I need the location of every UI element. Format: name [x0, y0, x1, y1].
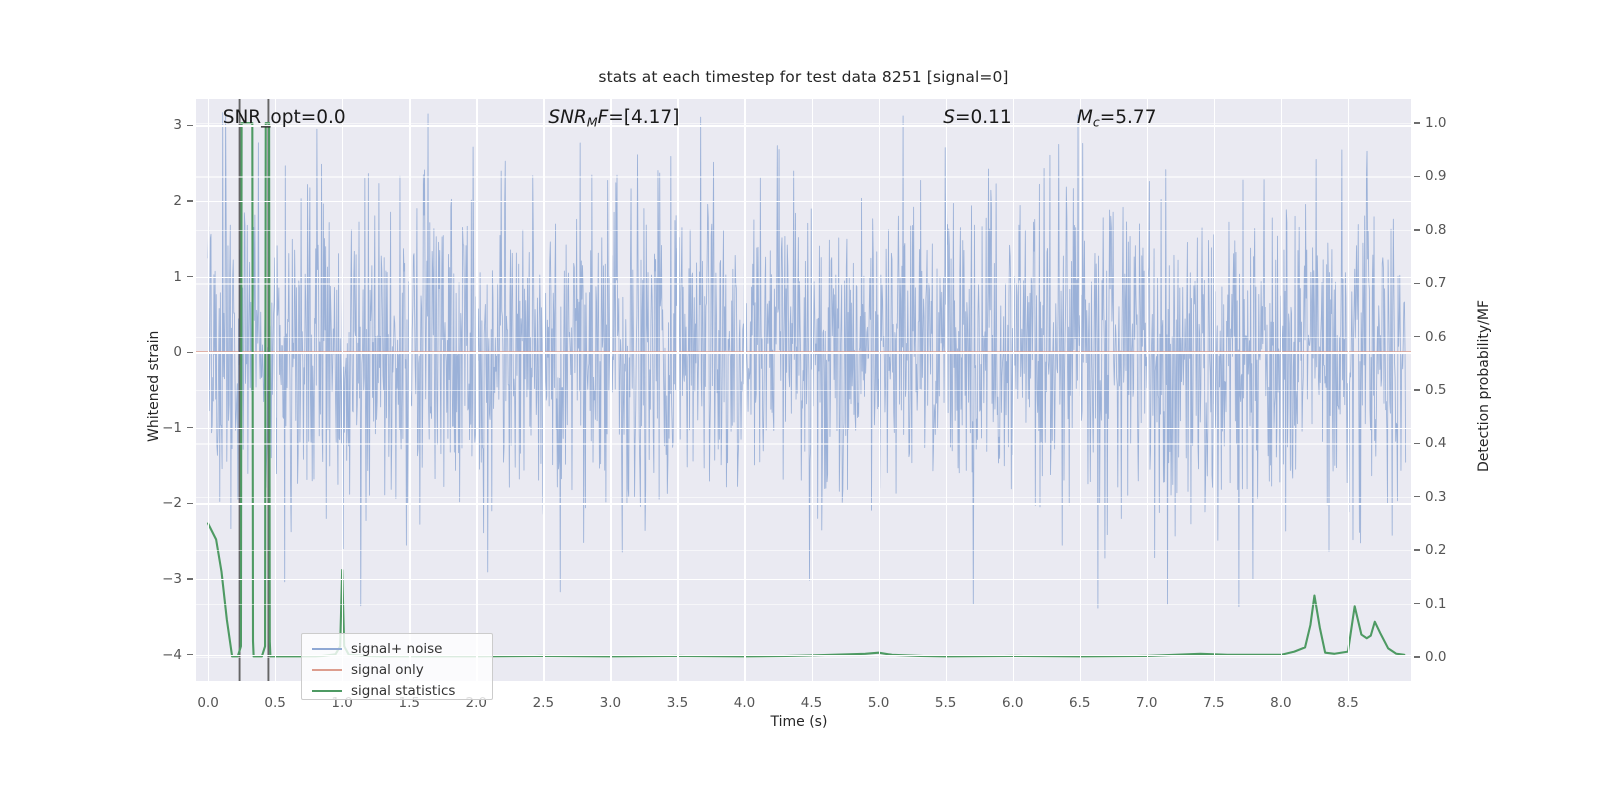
y-tickmark-right-5	[1414, 389, 1420, 390]
y-tick-label-right-2: 0.8	[1425, 222, 1465, 238]
gridline-x-6	[610, 99, 611, 681]
y-tick-label-left-2: 1	[150, 269, 182, 285]
y-axis-label-left: Whitened strain	[146, 331, 162, 442]
gridline-x-1	[275, 99, 276, 681]
series-signal-noise	[208, 112, 1406, 608]
figure-canvas: stats at each timestep for test data 825…	[0, 0, 1600, 800]
gridline-x-5	[543, 99, 544, 681]
gridline-yr-3	[196, 283, 1411, 284]
annotation-snr-opt: SNR_opt=0.0	[223, 107, 346, 128]
x-tick-label-9: 4.5	[801, 695, 822, 711]
y-tickmark-right-9	[1414, 603, 1420, 604]
legend-label-signal-statistics: signal statistics	[351, 683, 455, 699]
gridline-yr-7	[196, 497, 1411, 498]
gridline-x-14	[1147, 99, 1148, 681]
x-tick-label-1: 0.5	[264, 695, 285, 711]
plot-area[interactable]: SNR_opt=0.0SNRMF=[4.17]S=0.11Mc=5.77	[196, 99, 1411, 681]
x-tick-label-13: 6.5	[1069, 695, 1090, 711]
gridline-y-5	[196, 503, 1411, 504]
gridline-x-13	[1080, 99, 1081, 681]
y-tickmark-right-4	[1414, 336, 1420, 337]
x-tick-label-6: 3.0	[600, 695, 621, 711]
y-tick-label-right-5: 0.5	[1425, 382, 1465, 398]
x-tick-label-7: 3.5	[667, 695, 688, 711]
legend-item-signal-noise[interactable]: signal+ noise	[302, 638, 492, 659]
y-tickmark-right-1	[1414, 176, 1420, 177]
gridline-y-0	[196, 125, 1411, 126]
y-tickmark-left-2	[187, 276, 193, 277]
x-tick-label-0: 0.0	[197, 695, 218, 711]
gridline-yr-1	[196, 176, 1411, 177]
y-tickmark-right-3	[1414, 283, 1420, 284]
y-tickmark-left-7	[187, 654, 193, 655]
y-axis-label-right: Detection probability/MF	[1476, 300, 1492, 472]
annotation-stat-s: S=0.11	[943, 107, 1011, 128]
gridline-yr-8	[196, 550, 1411, 551]
y-tick-label-right-8: 0.2	[1425, 542, 1465, 558]
gridline-y-2	[196, 277, 1411, 278]
y-tickmark-left-1	[187, 200, 193, 201]
gridline-x-11	[946, 99, 947, 681]
gridline-yr-0	[196, 123, 1411, 124]
y-tickmark-right-6	[1414, 443, 1420, 444]
x-tick-label-5: 2.5	[533, 695, 554, 711]
y-tick-label-right-6: 0.4	[1425, 435, 1465, 451]
gridline-x-3	[409, 99, 410, 681]
x-tick-label-15: 7.5	[1203, 695, 1224, 711]
gridline-x-2	[342, 99, 343, 681]
y-tickmark-left-4	[187, 427, 193, 428]
y-tickmark-left-3	[187, 352, 193, 353]
gridline-yr-2	[196, 230, 1411, 231]
gridline-y-6	[196, 579, 1411, 580]
y-tick-label-right-0: 1.0	[1425, 115, 1465, 131]
y-tick-label-right-7: 0.3	[1425, 489, 1465, 505]
y-tickmark-right-8	[1414, 549, 1420, 550]
y-tickmark-right-2	[1414, 229, 1420, 230]
gridline-x-12	[1013, 99, 1014, 681]
gridline-x-9	[812, 99, 813, 681]
y-tickmark-left-6	[187, 578, 193, 579]
gridline-x-10	[879, 99, 880, 681]
legend-item-signal-statistics[interactable]: signal statistics	[302, 680, 492, 701]
x-tick-label-10: 5.0	[868, 695, 889, 711]
y-tick-label-left-7: −4	[150, 647, 182, 663]
gridline-y-3	[196, 352, 1411, 353]
gridline-yr-6	[196, 443, 1411, 444]
y-tick-label-right-10: 0.0	[1425, 649, 1465, 665]
y-tick-label-right-1: 0.9	[1425, 168, 1465, 184]
y-tick-label-right-3: 0.7	[1425, 275, 1465, 291]
gridline-x-0	[208, 99, 209, 681]
y-tickmark-right-0	[1414, 122, 1420, 123]
x-tick-label-16: 8.0	[1270, 695, 1291, 711]
gridline-yr-5	[196, 390, 1411, 391]
y-tickmark-right-7	[1414, 496, 1420, 497]
gridline-x-17	[1348, 99, 1349, 681]
x-axis-label: Time (s)	[771, 714, 828, 730]
y-tickmark-left-0	[187, 125, 193, 126]
y-tick-label-right-4: 0.6	[1425, 329, 1465, 345]
annotation-chirp-mass: Mc=5.77	[1077, 107, 1157, 130]
y-tick-label-left-0: 3	[150, 117, 182, 133]
gridline-y-1	[196, 201, 1411, 202]
legend-label-signal-noise: signal+ noise	[351, 641, 442, 657]
annotation-snr-mf: SNRMF=[4.17]	[548, 107, 679, 130]
x-tick-label-11: 5.5	[935, 695, 956, 711]
y-tickmark-left-5	[187, 503, 193, 504]
legend-swatch-signal-statistics	[312, 690, 342, 692]
y-tick-label-left-1: 2	[150, 193, 182, 209]
gridline-x-8	[744, 99, 745, 681]
gridline-yr-9	[196, 604, 1411, 605]
legend-label-signal-only: signal only	[351, 662, 424, 678]
x-tick-label-14: 7.0	[1136, 695, 1157, 711]
x-tick-label-17: 8.5	[1337, 695, 1358, 711]
gridline-x-16	[1281, 99, 1282, 681]
legend-swatch-signal-noise	[312, 648, 342, 650]
page-title: stats at each timestep for test data 825…	[196, 68, 1411, 86]
y-tick-label-left-6: −3	[150, 571, 182, 587]
legend[interactable]: signal+ noise signal only signal statist…	[301, 633, 493, 700]
gridline-x-7	[677, 99, 678, 681]
gridline-x-15	[1214, 99, 1215, 681]
x-tick-label-8: 4.0	[734, 695, 755, 711]
gridline-y-4	[196, 428, 1411, 429]
legend-item-signal-only[interactable]: signal only	[302, 659, 492, 680]
x-tick-label-12: 6.0	[1002, 695, 1023, 711]
legend-swatch-signal-only	[312, 669, 342, 671]
y-tick-label-right-9: 0.1	[1425, 596, 1465, 612]
y-tick-label-left-5: −2	[150, 495, 182, 511]
y-tickmark-right-10	[1414, 656, 1420, 657]
gridline-x-4	[476, 99, 477, 681]
gridline-yr-4	[196, 337, 1411, 338]
